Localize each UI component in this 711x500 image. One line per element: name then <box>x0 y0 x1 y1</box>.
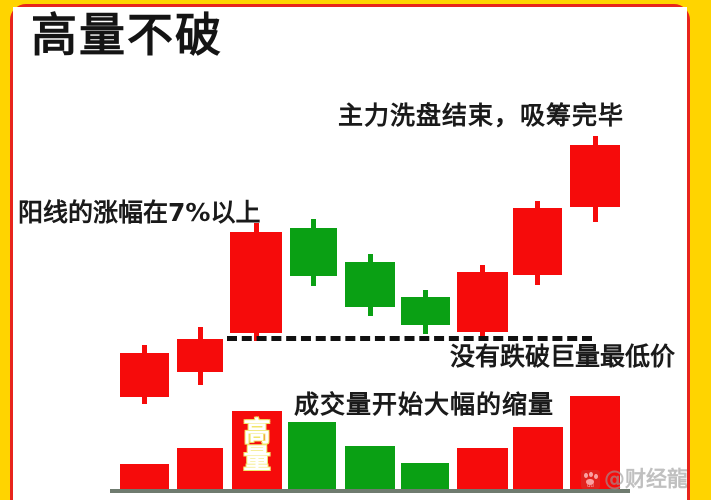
volume-bar <box>401 463 449 489</box>
annotation-left: 阳线的涨幅在7%以上 <box>18 200 260 225</box>
candle-wick <box>311 219 316 286</box>
candle-wick <box>535 201 540 285</box>
candlestick-series <box>13 7 687 500</box>
support-dashed-line <box>227 336 592 341</box>
candle-body <box>120 353 169 397</box>
volume-series: 高 量 <box>13 7 687 500</box>
chart-canvas: 高量不破 主力洗盘结束，吸筹完毕 阳线的涨幅在7%以上 没有跌破巨量最低价 成交… <box>13 7 687 500</box>
volume-baseline <box>110 489 630 493</box>
volume-bar <box>288 422 336 489</box>
candle-body <box>290 228 337 276</box>
volume-bar <box>345 446 395 489</box>
support-line-layer <box>13 7 687 500</box>
watermark-text: @财经龍头 <box>604 469 687 490</box>
annotation-support: 没有跌破巨量最低价 <box>450 344 675 369</box>
volume-bar <box>177 448 223 489</box>
candle-wick <box>423 290 428 334</box>
candle-body <box>345 262 395 307</box>
baidu-paw-icon: du <box>581 470 600 489</box>
candle-body <box>177 339 223 372</box>
candle-wick <box>368 254 373 316</box>
candle-wick <box>593 136 598 222</box>
volume-bar <box>120 464 169 489</box>
volume-bar-label: 高 量 <box>232 419 282 473</box>
candle-body <box>457 272 508 332</box>
volume-bar <box>513 427 563 489</box>
annotation-volume: 成交量开始大幅的缩量 <box>294 392 554 417</box>
candle-wick <box>198 327 203 385</box>
page-title: 高量不破 <box>31 12 223 58</box>
candle-body <box>570 145 620 207</box>
candle-wick <box>142 345 147 404</box>
candle-wick <box>480 265 485 337</box>
candle-body <box>513 208 562 275</box>
candle-body <box>230 232 282 333</box>
watermark-brand: du <box>581 483 600 489</box>
candle-body <box>401 297 450 325</box>
watermark: du @财经龍头 <box>581 469 687 490</box>
volume-bar <box>232 411 282 489</box>
chart-image: 高量不破 主力洗盘结束，吸筹完毕 阳线的涨幅在7%以上 没有跌破巨量最低价 成交… <box>0 0 711 500</box>
annotation-top: 主力洗盘结束，吸筹完毕 <box>338 103 624 128</box>
candle-wick <box>254 223 259 341</box>
volume-bar <box>457 448 508 489</box>
